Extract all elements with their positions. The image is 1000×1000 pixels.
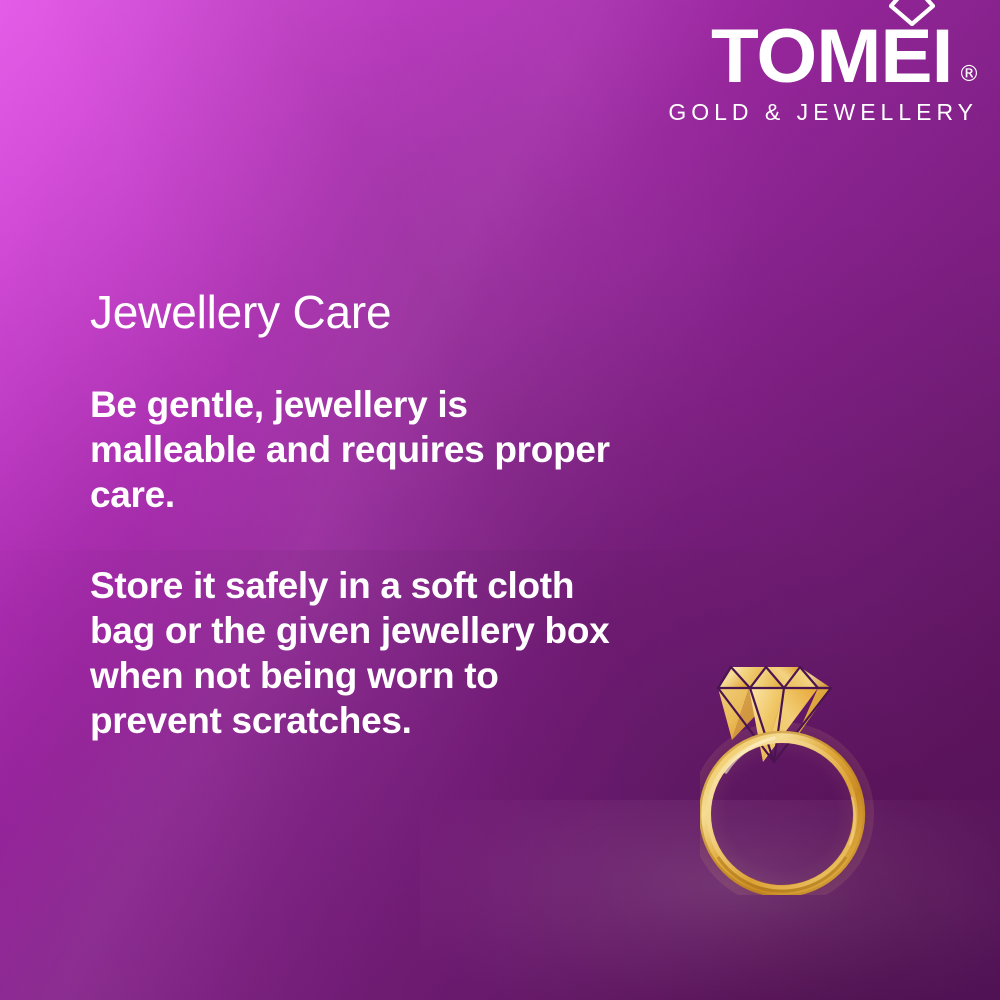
- care-paragraph-1: Be gentle, jewellery is malleable and re…: [90, 382, 635, 517]
- care-paragraph-2: Store it safely in a soft cloth bag or t…: [90, 563, 635, 744]
- brand-logo: TOMEI ® GOLD & JEWELLERY: [668, 22, 980, 124]
- brand-tagline: GOLD & JEWELLERY: [668, 101, 980, 124]
- copy-block: Jewellery Care Be gentle, jewellery is m…: [90, 288, 690, 744]
- page-title: Jewellery Care: [90, 288, 690, 338]
- brand-name: TOMEI: [711, 22, 952, 92]
- registered-trademark-icon: ®: [958, 64, 980, 86]
- brand-logo-main: TOMEI ®: [668, 22, 980, 92]
- diamond-ring-illustration: [700, 650, 890, 895]
- jewellery-care-poster: TOMEI ® GOLD & JEWELLERY Jewellery Care …: [0, 0, 1000, 1000]
